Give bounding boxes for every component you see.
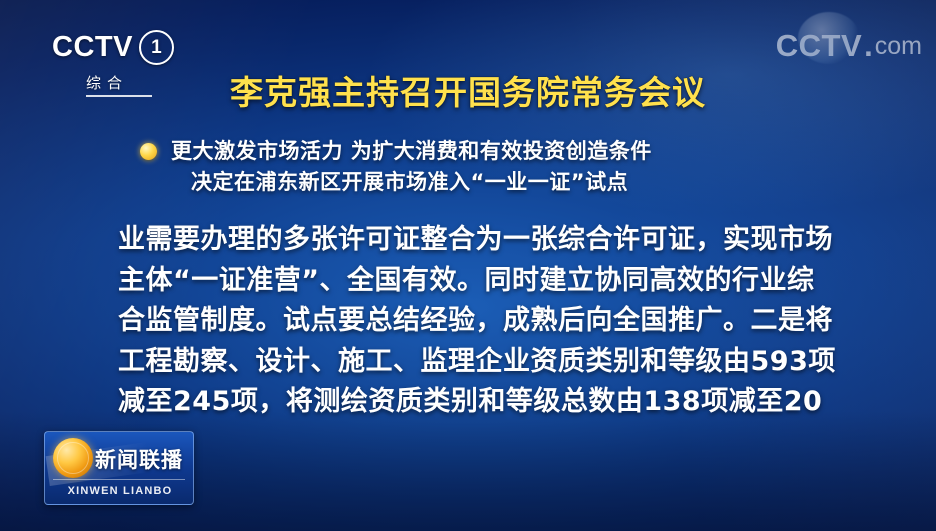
- channel-brand-text: CCTV: [52, 33, 133, 62]
- body-line: 主体“一证准营”、全国有效。同时建立协同高效的行业综: [118, 261, 828, 302]
- program-name-cn: 新闻联播: [95, 444, 183, 474]
- yellow-bullet-dot-icon: [140, 143, 157, 160]
- body-line: 业需要办理的多张许可证整合为一张综合许可证，实现市场: [118, 220, 828, 261]
- channel-logo-mark: CCTV 1: [52, 30, 202, 65]
- program-name-en: XINWEN LIANBO: [55, 485, 185, 497]
- body-paragraph: 业需要办理的多张许可证整合为一张综合许可证，实现市场 主体“一证准营”、全国有效…: [118, 220, 828, 423]
- cctv-globe-icon: [798, 12, 860, 64]
- cctv-com-watermark: CCTV . com: [776, 28, 922, 64]
- bullet-line-1: 更大激发市场活力 为扩大消费和有效投资创造条件: [171, 136, 652, 167]
- bullet-block: 更大激发市场活力 为扩大消费和有效投资创造条件 决定在浦东新区开展市场准入“一业…: [140, 136, 816, 198]
- news-globe-icon: [53, 438, 93, 478]
- bullet-line-2: 决定在浦东新区开展市场准入“一业一证”试点: [171, 167, 652, 198]
- bullet-lines: 更大激发市场活力 为扩大消费和有效投资创造条件 决定在浦东新区开展市场准入“一业…: [171, 136, 652, 198]
- watermark-dot: .: [864, 28, 873, 64]
- body-line: 工程勘察、设计、施工、监理企业资质类别和等级由593项: [118, 342, 828, 383]
- channel-number-badge: 1: [139, 30, 174, 65]
- watermark-suffix-text: com: [875, 32, 922, 61]
- program-bug: 新闻联播 XINWEN LIANBO: [44, 431, 194, 505]
- body-line: 减至245项，将测绘资质类别和等级总数由138项减至20: [118, 382, 828, 423]
- headline-title: 李克强主持召开国务院常务会议: [0, 66, 936, 114]
- broadcast-screenshot: CCTV 1 综合 CCTV . com 李克强主持召开国务院常务会议 更大激发…: [0, 0, 936, 531]
- program-bug-divider: [53, 479, 185, 480]
- body-line: 合监管制度。试点要总结经验，成熟后向全国推广。二是将: [118, 301, 828, 342]
